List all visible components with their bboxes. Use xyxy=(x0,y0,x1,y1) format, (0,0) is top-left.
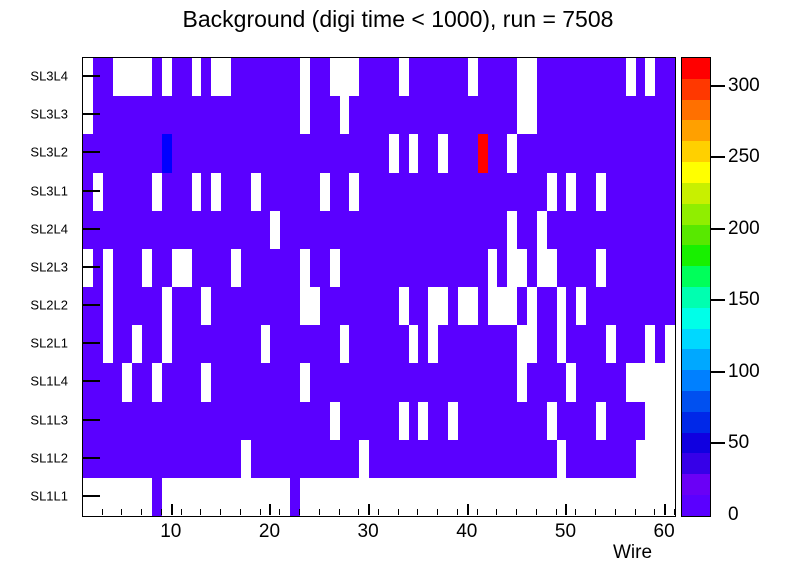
heatmap-cell xyxy=(665,173,675,211)
colorbar-tick-label: 0 xyxy=(728,504,739,526)
heatmap-cell xyxy=(201,325,211,363)
heatmap-cell xyxy=(192,402,202,440)
heatmap-cell xyxy=(241,287,251,325)
heatmap-cell xyxy=(221,440,231,478)
heatmap-cell xyxy=(655,249,665,287)
heatmap-cell xyxy=(320,287,330,325)
heatmap-cell xyxy=(152,96,162,134)
heatmap-cell xyxy=(201,402,211,440)
heatmap-cell xyxy=(182,96,192,134)
heatmap-cell xyxy=(517,287,527,325)
colorbar-tick-mark xyxy=(711,156,725,158)
heatmap-cell xyxy=(665,287,675,325)
heatmap-cell xyxy=(172,134,182,172)
heatmap-cell xyxy=(369,58,379,96)
heatmap-cell xyxy=(636,211,646,249)
heatmap-cell xyxy=(349,440,359,478)
heatmap-cell xyxy=(201,58,211,96)
heatmap-cell xyxy=(221,96,231,134)
heatmap-cell xyxy=(83,287,93,325)
heatmap-cell xyxy=(261,173,271,211)
heatmap-cell xyxy=(557,96,567,134)
heatmap-cell xyxy=(636,478,646,516)
heatmap-cell xyxy=(626,249,636,287)
heatmap-cell xyxy=(586,249,596,287)
heatmap-cell xyxy=(290,134,300,172)
heatmap-cell xyxy=(458,96,468,134)
heatmap-cell xyxy=(389,249,399,287)
heatmap-cell xyxy=(448,249,458,287)
heatmap-cell xyxy=(113,287,123,325)
colorbar-band xyxy=(682,453,710,474)
heatmap-cell xyxy=(192,58,202,96)
heatmap-cell xyxy=(557,402,567,440)
heatmap-cell xyxy=(566,211,576,249)
heatmap-cell xyxy=(478,402,488,440)
heatmap-cell xyxy=(428,363,438,401)
heatmap-cell xyxy=(478,173,488,211)
heatmap-cell xyxy=(103,134,113,172)
heatmap-cell xyxy=(428,134,438,172)
heatmap-cell xyxy=(655,211,665,249)
x-axis-minor-tick xyxy=(654,509,655,515)
heatmap-cell xyxy=(389,96,399,134)
y-axis-tick-label: SL2L3 xyxy=(30,259,68,274)
heatmap-cell xyxy=(280,440,290,478)
colorbar-tick-label: 50 xyxy=(728,432,749,454)
heatmap-cell xyxy=(132,96,142,134)
heatmap-cell xyxy=(418,440,428,478)
heatmap-cell xyxy=(251,287,261,325)
x-axis-minor-tick xyxy=(595,509,596,515)
heatmap-cell xyxy=(399,440,409,478)
heatmap-cell xyxy=(310,287,320,325)
heatmap-cell xyxy=(428,249,438,287)
heatmap-cell xyxy=(152,363,162,401)
heatmap-cell xyxy=(586,402,596,440)
heatmap-cell xyxy=(507,134,517,172)
heatmap-cell xyxy=(280,325,290,363)
x-axis-minor-tick xyxy=(536,509,537,515)
heatmap-cell xyxy=(458,363,468,401)
heatmap-cell xyxy=(359,134,369,172)
colorbar-tick-label: 250 xyxy=(728,146,760,168)
heatmap-cell xyxy=(359,249,369,287)
heatmap-cell xyxy=(468,287,478,325)
heatmap-cell xyxy=(359,173,369,211)
colorbar-band xyxy=(682,474,710,495)
heatmap-cell xyxy=(241,134,251,172)
heatmap-cell xyxy=(448,173,458,211)
x-axis-tick-label: 60 xyxy=(654,521,675,543)
heatmap-cell xyxy=(330,440,340,478)
heatmap-cell xyxy=(83,249,93,287)
heatmap-cell xyxy=(418,211,428,249)
heatmap-cell xyxy=(537,287,547,325)
heatmap-cell xyxy=(586,173,596,211)
heatmap-cell xyxy=(448,96,458,134)
heatmap-cell xyxy=(576,173,586,211)
y-axis-tick-label: SL1L4 xyxy=(30,374,68,389)
heatmap-cell xyxy=(349,211,359,249)
heatmap-cell xyxy=(340,363,350,401)
heatmap-cell xyxy=(596,211,606,249)
heatmap-cell xyxy=(280,134,290,172)
heatmap-cell xyxy=(132,402,142,440)
heatmap-cell xyxy=(103,478,113,516)
colorbar-tick-mark xyxy=(711,371,725,373)
heatmap-cell xyxy=(448,134,458,172)
heatmap-cell xyxy=(497,402,507,440)
heatmap-cell xyxy=(616,58,626,96)
heatmap-cell xyxy=(93,249,103,287)
heatmap-cell xyxy=(458,440,468,478)
x-axis-minor-tick xyxy=(161,509,162,515)
heatmap-cell xyxy=(596,134,606,172)
heatmap-cell xyxy=(221,325,231,363)
heatmap-cell xyxy=(665,325,675,363)
heatmap-cell xyxy=(201,173,211,211)
heatmap-cell xyxy=(645,173,655,211)
colorbar xyxy=(681,57,711,517)
heatmap-cell xyxy=(132,287,142,325)
heatmap-cell xyxy=(507,325,517,363)
heatmap-cell xyxy=(192,134,202,172)
heatmap-cell xyxy=(566,58,576,96)
heatmap-cell xyxy=(270,173,280,211)
heatmap-cell xyxy=(596,402,606,440)
heatmap-cell xyxy=(596,173,606,211)
heatmap-cell xyxy=(251,249,261,287)
colorbar-tick-mark xyxy=(711,299,725,301)
heatmap-cell xyxy=(626,211,636,249)
heatmap-cell xyxy=(557,363,567,401)
colorbar-band xyxy=(682,183,710,204)
y-axis-tick-label: SL2L1 xyxy=(30,336,68,351)
heatmap-cell xyxy=(606,173,616,211)
heatmap-cell xyxy=(527,363,537,401)
heatmap-cell xyxy=(527,249,537,287)
heatmap-cell xyxy=(636,287,646,325)
heatmap-cell xyxy=(527,96,537,134)
heatmap-cell xyxy=(596,363,606,401)
heatmap-cell xyxy=(428,325,438,363)
heatmap-cell xyxy=(616,363,626,401)
x-axis-title: Wire xyxy=(613,542,652,564)
colorbar-tick-mark xyxy=(711,442,725,444)
heatmap-cell xyxy=(655,440,665,478)
heatmap-cell xyxy=(349,173,359,211)
heatmap-cell xyxy=(517,363,527,401)
heatmap-cell xyxy=(409,249,419,287)
heatmap-cell xyxy=(379,363,389,401)
x-axis-minor-tick xyxy=(279,509,280,515)
heatmap-cell xyxy=(340,173,350,211)
heatmap-cell xyxy=(488,287,498,325)
heatmap-cell xyxy=(626,96,636,134)
heatmap-cell xyxy=(359,58,369,96)
heatmap-cell xyxy=(517,211,527,249)
heatmap-cell xyxy=(300,58,310,96)
heatmap-cell xyxy=(507,402,517,440)
heatmap-cell xyxy=(468,58,478,96)
heatmap-cell xyxy=(251,325,261,363)
heatmap-cell xyxy=(103,402,113,440)
heatmap-cell xyxy=(517,325,527,363)
heatmap-cell xyxy=(389,58,399,96)
heatmap-cell xyxy=(497,440,507,478)
y-axis-tick-label: SL1L2 xyxy=(30,450,68,465)
heatmap-cell xyxy=(576,96,586,134)
heatmap-cell xyxy=(142,287,152,325)
heatmap-cell xyxy=(300,478,310,516)
x-axis-minor-tick xyxy=(358,509,359,515)
heatmap-cell xyxy=(330,96,340,134)
x-axis-minor-tick xyxy=(496,509,497,515)
colorbar-band xyxy=(682,266,710,287)
heatmap-cell xyxy=(497,287,507,325)
heatmap-cell xyxy=(616,249,626,287)
heatmap-cell xyxy=(547,96,557,134)
heatmap-cell xyxy=(349,325,359,363)
heatmap-cell xyxy=(211,134,221,172)
heatmap-cell xyxy=(547,249,557,287)
heatmap-cell xyxy=(300,134,310,172)
heatmap-cell xyxy=(645,402,655,440)
heatmap-cell xyxy=(636,58,646,96)
heatmap-cell xyxy=(201,211,211,249)
heatmap-cell xyxy=(142,249,152,287)
heatmap-cell xyxy=(616,478,626,516)
heatmap-cell xyxy=(340,440,350,478)
heatmap-cell xyxy=(113,249,123,287)
heatmap-cell xyxy=(290,440,300,478)
heatmap-cell xyxy=(231,287,241,325)
heatmap-cell xyxy=(182,440,192,478)
heatmap-cell xyxy=(162,58,172,96)
heatmap-cell xyxy=(636,440,646,478)
heatmap-cell xyxy=(221,478,231,516)
heatmap-cell xyxy=(103,440,113,478)
heatmap-cell xyxy=(211,325,221,363)
heatmap-cell xyxy=(241,249,251,287)
heatmap-cell xyxy=(537,478,547,516)
heatmap-cell xyxy=(547,211,557,249)
heatmap-cell xyxy=(547,58,557,96)
heatmap-cell xyxy=(399,173,409,211)
heatmap-cell xyxy=(103,58,113,96)
colorbar-band xyxy=(682,412,710,433)
heatmap-cell xyxy=(438,440,448,478)
heatmap-cell xyxy=(330,134,340,172)
heatmap-cell xyxy=(103,287,113,325)
heatmap-cell xyxy=(310,96,320,134)
colorbar-band xyxy=(682,370,710,391)
heatmap-cell xyxy=(537,58,547,96)
heatmap-cell xyxy=(399,134,409,172)
heatmap-cell xyxy=(83,363,93,401)
heatmap-cell xyxy=(359,325,369,363)
heatmap-cell xyxy=(655,173,665,211)
colorbar-gradient xyxy=(682,58,710,516)
heatmap-cell xyxy=(300,325,310,363)
heatmap-cell xyxy=(261,58,271,96)
colorbar-tick-mark xyxy=(711,85,725,87)
heatmap-cell xyxy=(379,134,389,172)
heatmap-cell xyxy=(665,363,675,401)
heatmap-cell xyxy=(389,402,399,440)
heatmap-cell xyxy=(132,211,142,249)
heatmap-cell xyxy=(507,96,517,134)
heatmap-cell xyxy=(586,96,596,134)
heatmap-cell xyxy=(468,211,478,249)
heatmap-cell xyxy=(83,478,93,516)
heatmap-cell xyxy=(566,363,576,401)
heatmap-cell xyxy=(655,325,665,363)
heatmap-cell xyxy=(152,325,162,363)
heatmap-cell xyxy=(113,211,123,249)
y-axis-tick-label: SL3L2 xyxy=(30,145,68,160)
heatmap-cell xyxy=(626,402,636,440)
heatmap-cell xyxy=(320,96,330,134)
heatmap-cell xyxy=(113,134,123,172)
heatmap-cell xyxy=(478,478,488,516)
heatmap-cell xyxy=(103,96,113,134)
x-axis-minor-tick xyxy=(240,509,241,515)
heatmap-cell xyxy=(409,211,419,249)
heatmap-cell xyxy=(557,249,567,287)
y-axis: SL3L4SL3L3SL3L2SL3L1SL2L4SL2L3SL2L2SL2L1… xyxy=(0,57,78,515)
heatmap-cell xyxy=(497,363,507,401)
heatmap-cell xyxy=(537,325,547,363)
heatmap-cell xyxy=(399,211,409,249)
heatmap-cell xyxy=(340,134,350,172)
heatmap-cell xyxy=(172,402,182,440)
heatmap-cell xyxy=(527,173,537,211)
colorbar-band xyxy=(682,495,710,516)
heatmap-cell xyxy=(192,96,202,134)
heatmap-cell xyxy=(645,58,655,96)
heatmap-cell xyxy=(280,402,290,440)
heatmap-cell xyxy=(497,211,507,249)
heatmap-cell xyxy=(122,211,132,249)
heatmap-cell xyxy=(596,440,606,478)
y-axis-tick-mark xyxy=(83,113,100,115)
heatmap-cell xyxy=(280,478,290,516)
heatmap-cell xyxy=(162,287,172,325)
colorbar-band xyxy=(682,433,710,454)
heatmap-cell xyxy=(152,134,162,172)
y-axis-tick-label: SL3L4 xyxy=(30,69,68,84)
heatmap-cell xyxy=(566,325,576,363)
heatmap-cell xyxy=(418,249,428,287)
heatmap-cell xyxy=(182,402,192,440)
heatmap-cell xyxy=(399,325,409,363)
heatmap-cell xyxy=(270,249,280,287)
heatmap-cell xyxy=(231,211,241,249)
page-title: Background (digi time < 1000), run = 750… xyxy=(0,6,796,33)
heatmap-cell xyxy=(221,134,231,172)
heatmap-cell xyxy=(162,402,172,440)
heatmap-cell xyxy=(478,287,488,325)
heatmap-cell xyxy=(626,58,636,96)
heatmap-cell xyxy=(596,249,606,287)
heatmap-cell xyxy=(418,287,428,325)
heatmap-cell xyxy=(221,402,231,440)
heatmap-cell xyxy=(261,363,271,401)
heatmap-cell xyxy=(369,96,379,134)
heatmap-cell xyxy=(566,134,576,172)
x-axis-minor-tick xyxy=(299,509,300,515)
heatmap-cell xyxy=(557,173,567,211)
y-axis-tick-label: SL1L1 xyxy=(30,488,68,503)
heatmap-cell xyxy=(192,173,202,211)
heatmap-cell xyxy=(488,440,498,478)
heatmap-cell xyxy=(488,249,498,287)
heatmap-cell xyxy=(261,402,271,440)
heatmap-cell xyxy=(399,58,409,96)
heatmap-cell xyxy=(270,134,280,172)
heatmap-cell xyxy=(152,173,162,211)
heatmap-cell xyxy=(113,440,123,478)
heatmap-cell xyxy=(83,402,93,440)
heatmap-cell xyxy=(606,287,616,325)
x-axis-major-tick xyxy=(269,504,271,515)
heatmap-cell xyxy=(655,363,665,401)
x-axis-minor-tick xyxy=(417,509,418,515)
heatmap-cell xyxy=(241,96,251,134)
colorbar-tick-label: 200 xyxy=(728,218,760,240)
heatmap-cell xyxy=(418,325,428,363)
heatmap-cell xyxy=(448,363,458,401)
heatmap-cell xyxy=(221,173,231,211)
heatmap-cell xyxy=(113,58,123,96)
heatmap-cell xyxy=(616,211,626,249)
colorbar-tick-mark xyxy=(711,228,725,230)
heatmap-cell xyxy=(468,173,478,211)
heatmap-cell xyxy=(547,440,557,478)
heatmap-cell xyxy=(132,325,142,363)
heatmap-cell xyxy=(201,134,211,172)
colorbar-band xyxy=(682,245,710,266)
heatmap-cell xyxy=(616,134,626,172)
heatmap-cell xyxy=(409,402,419,440)
heatmap-cell xyxy=(606,58,616,96)
heatmap-cell xyxy=(488,402,498,440)
heatmap-cell xyxy=(645,211,655,249)
heatmap-cell xyxy=(586,325,596,363)
heatmap-cell xyxy=(468,363,478,401)
x-axis-minor-tick xyxy=(220,509,221,515)
heatmap-cell xyxy=(566,402,576,440)
colorbar-band xyxy=(682,58,710,79)
heatmap-cell xyxy=(241,211,251,249)
heatmap-cell xyxy=(103,211,113,249)
heatmap-cell xyxy=(192,249,202,287)
heatmap-cell xyxy=(389,211,399,249)
heatmap-cell xyxy=(636,325,646,363)
heatmap-cell xyxy=(320,134,330,172)
heatmap-cell xyxy=(409,58,419,96)
heatmap-cell xyxy=(537,249,547,287)
heatmap-cell xyxy=(320,478,330,516)
heatmap-cell xyxy=(645,363,655,401)
colorbar-band xyxy=(682,329,710,350)
heatmap-cell xyxy=(626,287,636,325)
heatmap-cell xyxy=(221,58,231,96)
heatmap-cell xyxy=(507,287,517,325)
heatmap-cell xyxy=(310,58,320,96)
